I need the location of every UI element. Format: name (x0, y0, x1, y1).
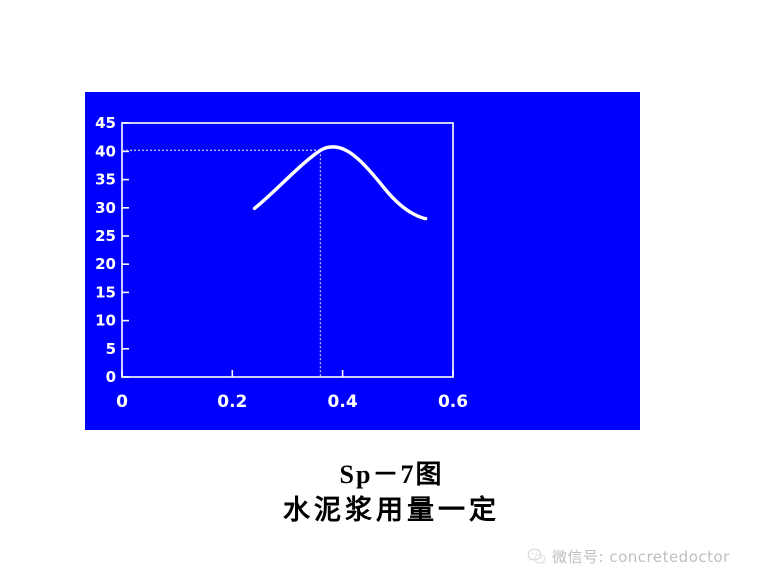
x-axis-tick-labels: 0 0.2 0.4 0.6 (116, 392, 468, 412)
svg-text:20: 20 (95, 255, 116, 273)
data-curve (255, 147, 426, 219)
footer-wechat-id: 微信号: concretedoctor (552, 546, 730, 567)
svg-text:35: 35 (95, 171, 116, 189)
svg-text:0.6: 0.6 (438, 392, 468, 412)
footer-watermark: 微信号: concretedoctor (527, 546, 730, 567)
svg-text:10: 10 (95, 312, 116, 330)
svg-text:0: 0 (116, 392, 128, 412)
figure-subtitle: 水泥浆用量一定 (0, 494, 783, 528)
x-axis-ticks (122, 370, 453, 377)
svg-text:40: 40 (95, 142, 116, 160)
wechat-icon (527, 547, 546, 566)
line-chart: 0 5 10 15 20 25 30 35 40 45 0 0.2 0.4 0.… (85, 92, 640, 430)
svg-text:5: 5 (106, 340, 116, 358)
svg-text:0.4: 0.4 (328, 392, 358, 412)
svg-text:0.2: 0.2 (217, 392, 247, 412)
figure-title: Sp－7图 (0, 460, 783, 490)
peak-guides (122, 150, 320, 377)
svg-text:30: 30 (95, 199, 116, 217)
plot-frame (122, 123, 453, 377)
svg-text:0: 0 (106, 368, 116, 386)
svg-text:15: 15 (95, 283, 116, 301)
y-axis-tick-labels: 0 5 10 15 20 25 30 35 40 45 (95, 114, 116, 386)
svg-text:45: 45 (95, 114, 116, 132)
svg-text:25: 25 (95, 227, 116, 245)
y-axis-ticks (122, 123, 129, 377)
figure-title-block: Sp－7图 水泥浆用量一定 (0, 460, 783, 528)
chart-panel: 0 5 10 15 20 25 30 35 40 45 0 0.2 0.4 0.… (85, 92, 640, 430)
